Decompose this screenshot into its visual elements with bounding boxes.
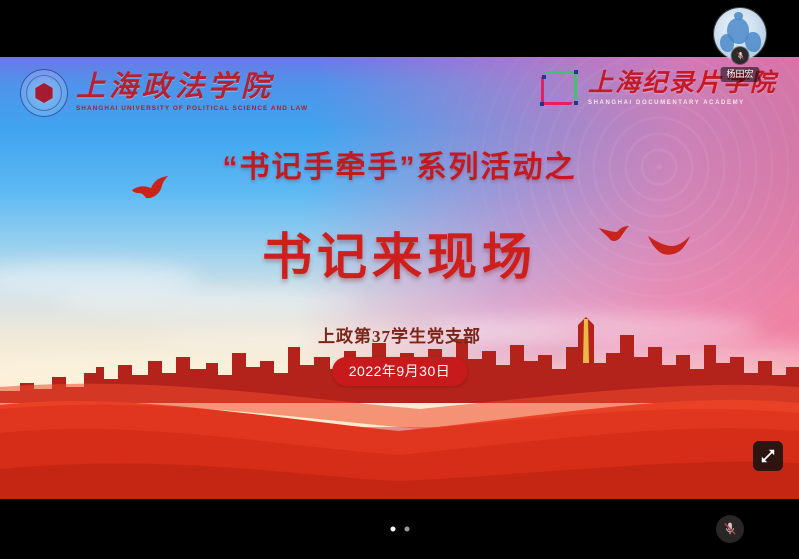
expand-arrow-button[interactable]: [753, 441, 783, 471]
participant-video-bubble[interactable]: 杨田宏: [714, 8, 766, 60]
red-wave-ground: [0, 369, 799, 499]
bottom-toolbar: [0, 499, 799, 559]
slide-title-line1: “书记手牵手”系列活动之: [0, 142, 799, 186]
slide-subtitle: 上政第37学生党支部: [0, 322, 799, 347]
right-logo-english-name: SHANGHAI DOCUMENTARY ACADEMY: [588, 100, 777, 106]
expand-arrow-icon: [760, 448, 776, 464]
microphone-muted-icon: [722, 521, 738, 537]
page-dot-inactive[interactable]: [404, 527, 409, 532]
microphone-muted-icon: [732, 47, 749, 64]
presentation-slide[interactable]: 上海政法学院 SHANGHAI UNIVERSITY OF POLITICAL …: [0, 57, 799, 499]
slide-headline: 书记来现场: [0, 217, 799, 289]
documentary-academy-square-icon: [539, 69, 579, 107]
participant-name-label: 杨田宏: [720, 67, 759, 82]
left-logo-english-name: SHANGHAI UNIVERSITY OF POLITICAL SCIENCE…: [76, 106, 308, 112]
slide-date-badge: 2022年9月30日: [332, 357, 468, 386]
left-logo: 上海政法学院 SHANGHAI UNIVERSITY OF POLITICAL …: [20, 69, 308, 117]
left-logo-chinese-name: 上海政法学院: [76, 73, 308, 102]
page-indicator-dots[interactable]: [390, 527, 409, 532]
university-seal-icon: [20, 69, 68, 117]
page-dot-active[interactable]: [390, 527, 395, 532]
meeting-screen: 上海政法学院 SHANGHAI UNIVERSITY OF POLITICAL …: [0, 0, 799, 559]
mic-toggle-button[interactable]: [716, 515, 744, 543]
